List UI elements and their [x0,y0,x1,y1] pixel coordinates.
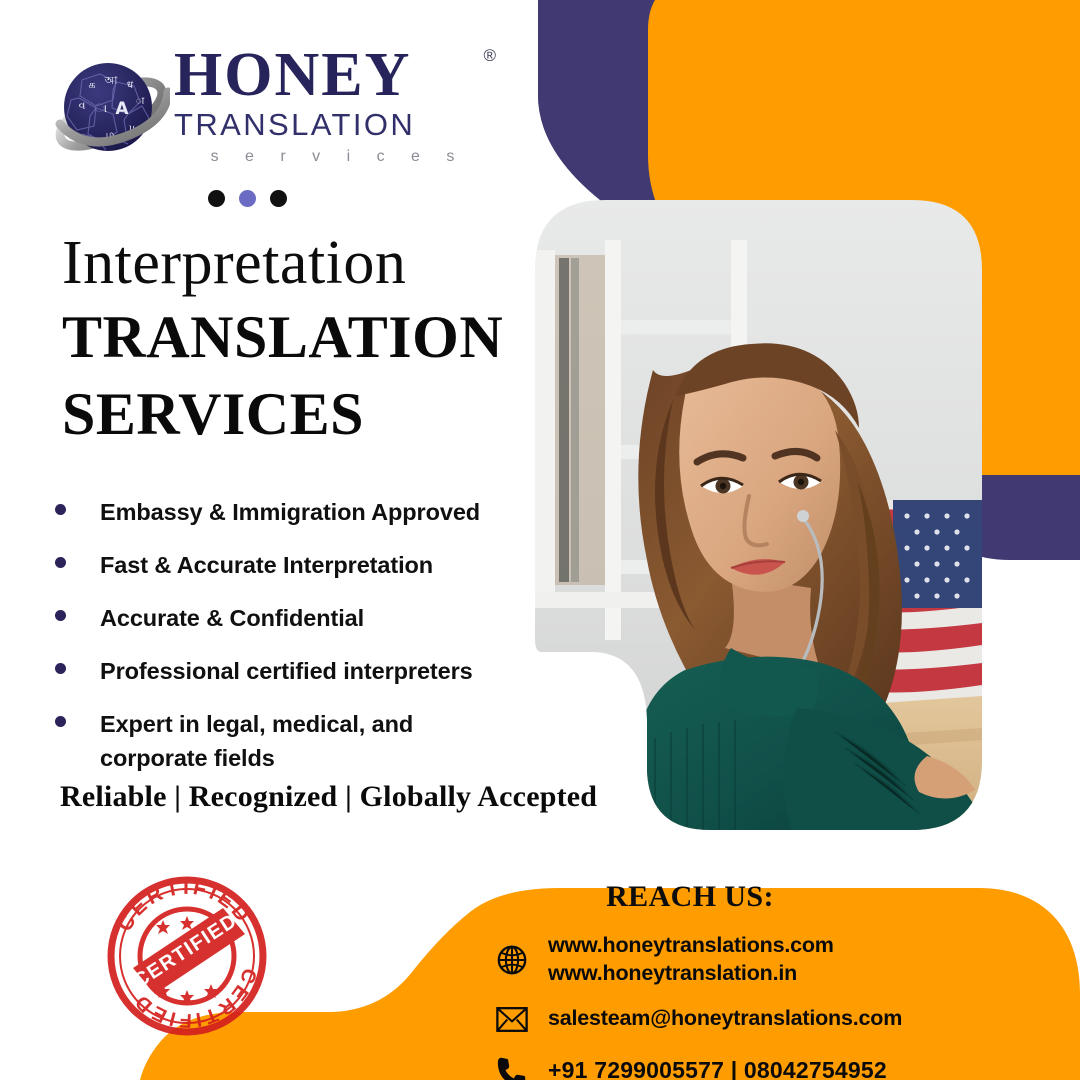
logo-wordmark: HONEY® TRANSLATION s e r v i c e s [174,44,474,166]
bullet-dot-icon [55,610,66,621]
reach-us-heading: REACH US: [480,880,900,914]
dot-3 [270,190,287,207]
phone-icon [492,1051,532,1080]
dot-1 [208,190,225,207]
list-item-label: Expert in legal, medical, and corporate … [100,707,430,775]
list-item: Fast & Accurate Interpretation [55,548,545,582]
headline-bold-line-2: SERVICES [62,381,532,448]
svg-text:க: க [88,78,95,91]
page-title: Interpretation TRANSLATION SERVICES [62,232,532,448]
phone-numbers[interactable]: +91 7299005577 | 08042754952 [548,1056,887,1080]
contact-panel: REACH US: www.honeytranslations.com [470,880,1030,1080]
contact-row-website[interactable]: www.honeytranslations.com www.honeytrans… [492,932,1030,987]
hero-photo [535,200,982,830]
envelope-icon [492,999,532,1039]
headline-bold-line-1: TRANSLATION [62,304,532,371]
tagline: Reliable | Recognized | Globally Accepte… [60,780,597,814]
certified-stamp-icon: CERTIFIED CERTIFIED CERTIFIED [103,872,271,1040]
bullet-dot-icon [55,663,66,674]
svg-text:আ: আ [104,74,118,87]
contact-row-phone[interactable]: +91 7299005577 | 08042754952 [492,1051,1030,1080]
svg-text:ा: ा [136,96,145,107]
list-item-label: Professional certified interpreters [100,654,473,688]
email-link[interactable]: salesteam@honeytranslations.com [548,1005,902,1033]
list-item-label: Embassy & Immigration Approved [100,495,480,529]
list-item: Expert in legal, medical, and corporate … [55,707,545,775]
globe-icon [492,940,532,980]
list-item: Accurate & Confidential [55,601,545,635]
poster-canvas: க আ ध વ ા A ा ౉ ம પ HONEY® TRANSLATION s… [0,0,1080,1080]
logo-translation-text: TRANSLATION [174,108,474,142]
headline-script-line: Interpretation [62,232,532,294]
website-links[interactable]: www.honeytranslations.com www.honeytrans… [548,932,834,987]
svg-text:વ: વ [79,99,86,112]
globe-languages-icon: க আ ध વ ા A ा ౉ ம પ [52,52,170,170]
list-item: Embassy & Immigration Approved [55,495,545,529]
svg-text:ध: ध [127,80,134,91]
logo-services-text: s e r v i c e s [174,148,474,166]
website-link-1[interactable]: www.honeytranslations.com [548,932,834,960]
registered-trademark-icon: ® [483,46,496,66]
decorative-dots [208,190,287,207]
brand-logo[interactable]: க আ ध વ ા A ा ౉ ம પ HONEY® TRANSLATION s… [52,44,472,184]
svg-text:ા: ા [95,101,107,115]
bullet-dot-icon [55,716,66,727]
logo-honey-text: HONEY [174,44,411,106]
hero-photo-illustration [535,200,982,830]
list-item-label: Accurate & Confidential [100,601,364,635]
purple-left-stub [538,0,648,232]
features-list: Embassy & Immigration Approved Fast & Ac… [55,495,545,794]
bullet-dot-icon [55,504,66,515]
dot-2 [239,190,256,207]
bullet-dot-icon [55,557,66,568]
list-item-label: Fast & Accurate Interpretation [100,548,433,582]
contact-row-email[interactable]: salesteam@honeytranslations.com [492,999,1030,1039]
list-item: Professional certified interpreters [55,654,545,688]
svg-text:A: A [115,99,129,119]
website-link-2[interactable]: www.honeytranslation.in [548,960,834,988]
